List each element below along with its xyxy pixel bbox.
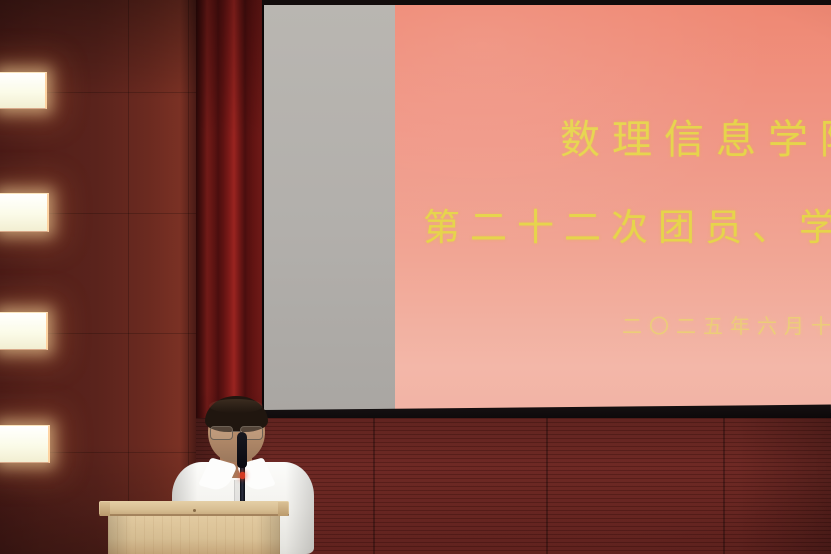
podium-screw: [193, 509, 196, 512]
auditorium-photo: 数理信息学院 第二十二次团员、学生 二〇二五年六月十日: [0, 0, 831, 554]
wall-light-panel: [0, 312, 48, 350]
podium-side-right: [278, 502, 288, 516]
wall-seam-vertical: [128, 0, 129, 554]
podium: [99, 501, 289, 554]
slide-title-line-2: 第二十二次团员、学生: [423, 197, 831, 251]
microphone-indicator-light: [240, 472, 245, 479]
slide-date: 二〇二五年六月十日: [622, 310, 831, 339]
podium-body: [108, 516, 280, 554]
wall-light-panel: [0, 72, 47, 109]
eyeglass-lens-left: [210, 426, 233, 440]
projection-screen: 数理信息学院 第二十二次团员、学生 二〇二五年六月十日: [264, 4, 831, 416]
microphone-icon: [237, 432, 247, 468]
lower-wall-seam: [546, 418, 548, 554]
slide-title-line-1: 数理信息学院: [560, 107, 831, 165]
lower-wall-seam: [723, 418, 725, 554]
screen-top-trim: [262, 0, 831, 5]
wall-light-panel: [0, 425, 50, 463]
lower-wall-seam: [373, 418, 375, 554]
projected-slide: 数理信息学院 第二十二次团员、学生 二〇二五年六月十日: [395, 4, 831, 416]
wall-light-panel: [0, 193, 49, 232]
podium-side-left: [100, 502, 110, 516]
